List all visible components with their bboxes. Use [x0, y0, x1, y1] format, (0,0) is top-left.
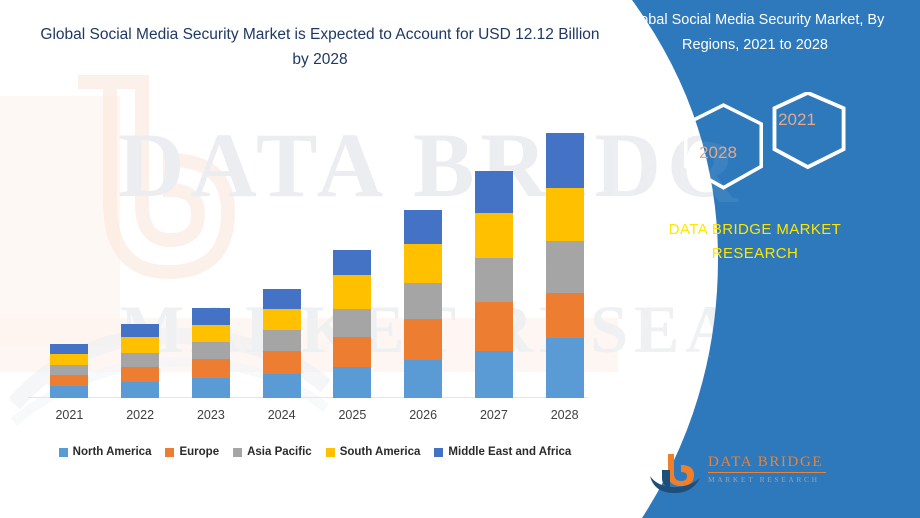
bar-segment[interactable] [192, 378, 230, 398]
infographic-canvas: DATA BRIDGE MARKET RESEARCH Global Socia… [0, 0, 920, 518]
bar-segment[interactable] [121, 337, 159, 352]
bar-2024[interactable] [263, 289, 301, 398]
x-label-2026: 2026 [393, 408, 453, 422]
bar-segment[interactable] [333, 309, 371, 336]
bar-segment[interactable] [546, 133, 584, 188]
legend-swatch-icon [233, 448, 242, 457]
bar-segment[interactable] [475, 213, 513, 258]
legend-item[interactable]: Middle East and Africa [434, 446, 571, 458]
bar-2027[interactable] [475, 171, 513, 398]
bar-2022[interactable] [121, 324, 159, 398]
bar-segment[interactable] [404, 244, 442, 282]
bar-segment[interactable] [121, 324, 159, 337]
x-label-2023: 2023 [181, 408, 241, 422]
bar-segment[interactable] [404, 283, 442, 319]
panel-watermark-bottom: RR [606, 296, 716, 375]
bar-segment[interactable] [546, 293, 584, 338]
bar-2025[interactable] [333, 250, 371, 398]
chart-title: Global Social Media Security Market is E… [40, 22, 600, 72]
bar-2026[interactable] [404, 210, 442, 398]
hexagon-2021 [774, 93, 843, 167]
legend-swatch-icon [326, 448, 335, 457]
dbmr-logo: DATA BRIDGE MARKET RESEARCH [648, 452, 838, 498]
legend-item[interactable]: Europe [165, 446, 219, 458]
bar-chart-plot [34, 110, 600, 398]
x-axis-labels: 20212022202320242025202620272028 [34, 403, 600, 427]
x-label-2028: 2028 [535, 408, 595, 422]
legend-label: Asia Pacific [247, 446, 312, 458]
legend-item[interactable]: Asia Pacific [233, 446, 312, 458]
bar-segment[interactable] [546, 338, 584, 398]
bar-2023[interactable] [192, 308, 230, 398]
bar-segment[interactable] [192, 342, 230, 360]
panel-brand-line2: RESEARCH [620, 242, 890, 266]
legend-label: Europe [179, 446, 219, 458]
chart-legend: North AmericaEuropeAsia PacificSouth Ame… [30, 441, 600, 463]
right-info-panel: BR RR Global Social Media Security Marke… [590, 0, 920, 518]
dbmr-logo-line1: DATA BRIDGE [708, 454, 826, 471]
bar-segment[interactable] [121, 353, 159, 367]
dbmr-logo-mark-icon [648, 452, 704, 496]
bar-segment[interactable] [475, 351, 513, 398]
bar-segment[interactable] [50, 375, 88, 386]
bar-segment[interactable] [50, 354, 88, 365]
x-label-2024: 2024 [252, 408, 312, 422]
legend-swatch-icon [434, 448, 443, 457]
bar-segment[interactable] [263, 374, 301, 398]
bar-segment[interactable] [333, 337, 371, 368]
hexagon-2028-label: 2028 [699, 143, 737, 162]
x-label-2021: 2021 [39, 408, 99, 422]
bar-segment[interactable] [546, 188, 584, 240]
bar-segment[interactable] [475, 302, 513, 351]
bar-segment[interactable] [121, 367, 159, 382]
bar-segment[interactable] [475, 258, 513, 302]
bar-segment[interactable] [475, 171, 513, 213]
legend-swatch-icon [59, 448, 68, 457]
x-label-2022: 2022 [110, 408, 170, 422]
dbmr-logo-rule [708, 472, 826, 473]
bar-segment[interactable] [404, 210, 442, 244]
hexagon-2021-label: 2021 [778, 110, 816, 129]
bar-2028[interactable] [546, 133, 584, 398]
bar-segment[interactable] [404, 319, 442, 360]
bar-segment[interactable] [333, 250, 371, 275]
legend-item[interactable]: South America [326, 446, 421, 458]
dbmr-logo-text: DATA BRIDGE MARKET RESEARCH [708, 454, 826, 484]
bar-segment[interactable] [263, 289, 301, 309]
legend-label: Middle East and Africa [448, 446, 571, 458]
bar-segment[interactable] [192, 308, 230, 325]
x-label-2027: 2027 [464, 408, 524, 422]
dbmr-logo-line2: MARKET RESEARCH [708, 475, 826, 484]
panel-brand-name: DATA BRIDGE MARKET RESEARCH [620, 218, 890, 266]
legend-label: North America [73, 446, 152, 458]
legend-label: South America [340, 446, 421, 458]
legend-item[interactable]: North America [59, 446, 152, 458]
x-label-2025: 2025 [322, 408, 382, 422]
panel-title: Global Social Media Security Market, By … [608, 8, 902, 58]
bar-segment[interactable] [50, 365, 88, 376]
legend-swatch-icon [165, 448, 174, 457]
bar-segment[interactable] [50, 386, 88, 398]
bar-segment[interactable] [50, 344, 88, 354]
hexagon-group: 2021 2028 [626, 92, 886, 202]
bar-segment[interactable] [263, 309, 301, 330]
bar-segment[interactable] [263, 330, 301, 351]
bar-segment[interactable] [404, 360, 442, 398]
bar-segment[interactable] [263, 351, 301, 373]
bar-segment[interactable] [192, 359, 230, 377]
bar-segment[interactable] [333, 275, 371, 309]
bar-segment[interactable] [546, 241, 584, 293]
bar-segment[interactable] [333, 367, 371, 398]
panel-brand-line1: DATA BRIDGE MARKET [620, 218, 890, 242]
bar-2021[interactable] [50, 344, 88, 398]
bar-segment[interactable] [192, 325, 230, 342]
bar-segment[interactable] [121, 382, 159, 398]
